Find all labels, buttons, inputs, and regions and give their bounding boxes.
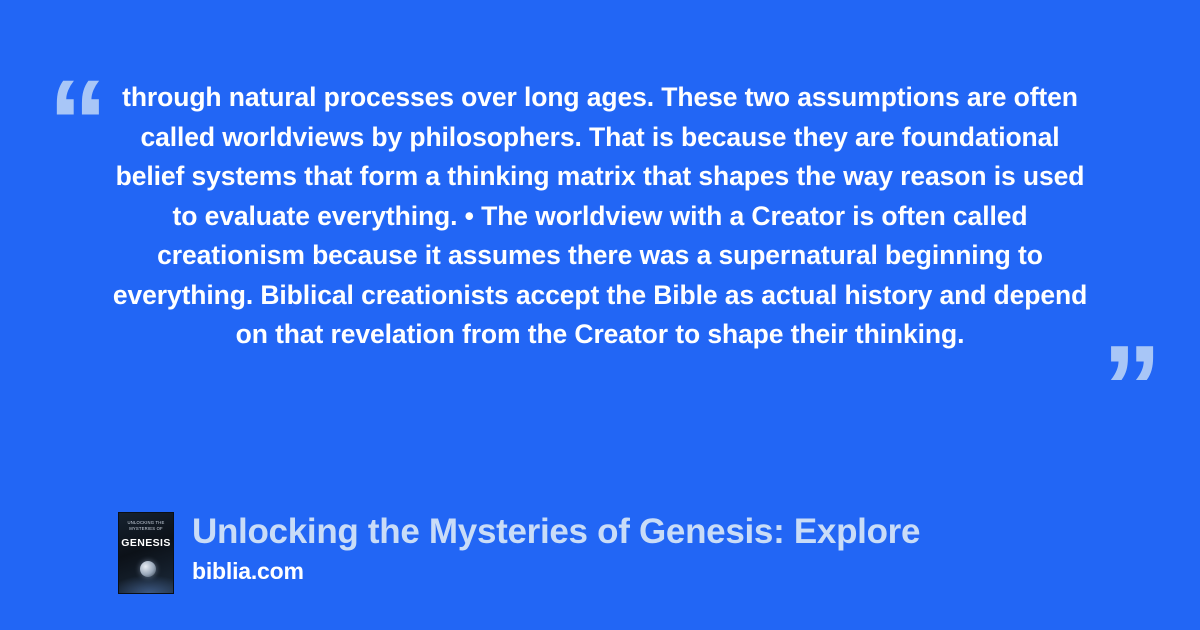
- close-quote-icon: ”: [1102, 328, 1158, 448]
- site-name: biblia.com: [192, 558, 920, 584]
- open-quote-icon: “: [48, 62, 104, 182]
- book-cover-overline: UNLOCKING THE MYSTERIES OF: [119, 520, 173, 532]
- quote-card: “ through natural processes over long ag…: [0, 0, 1200, 630]
- cover-glow: [118, 575, 174, 594]
- book-cover-thumbnail: UNLOCKING THE MYSTERIES OF GENESIS: [118, 512, 174, 594]
- footer: UNLOCKING THE MYSTERIES OF GENESIS Unloc…: [118, 512, 920, 594]
- quote-text: through natural processes over long ages…: [112, 78, 1088, 355]
- book-title: Unlocking the Mysteries of Genesis: Expl…: [192, 512, 920, 552]
- quote-block: “ through natural processes over long ag…: [0, 40, 1200, 420]
- book-cover-title: GENESIS: [119, 537, 173, 549]
- footer-text: Unlocking the Mysteries of Genesis: Expl…: [192, 512, 920, 584]
